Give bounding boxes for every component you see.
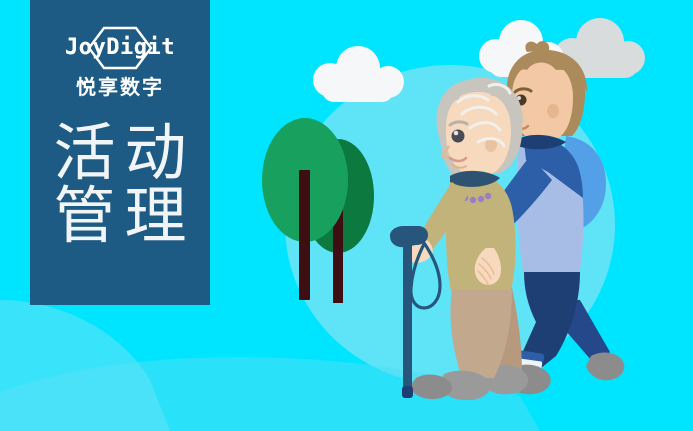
cane-tip: [402, 386, 413, 398]
logo-subtitle: 悦享数字: [76, 77, 164, 97]
cane-shaft: [403, 243, 412, 388]
brand-logo: JoyDigit 悦享数字: [45, 26, 195, 97]
page-title-line-2: 管理: [44, 184, 195, 247]
logo-wordmark: JoyDigit: [65, 37, 175, 59]
page-title-line-1: 活动: [44, 121, 195, 184]
page-title: 活动 管理: [44, 121, 195, 247]
activity-management-banner: JoyDigit 悦享数字 活动 管理: [0, 0, 693, 431]
logo-mark: JoyDigit: [50, 26, 190, 70]
young-man-ear: [547, 104, 559, 118]
left-title-panel: JoyDigit 悦享数字 活动 管理: [30, 0, 210, 305]
elderly-woman-eye: [452, 130, 465, 143]
